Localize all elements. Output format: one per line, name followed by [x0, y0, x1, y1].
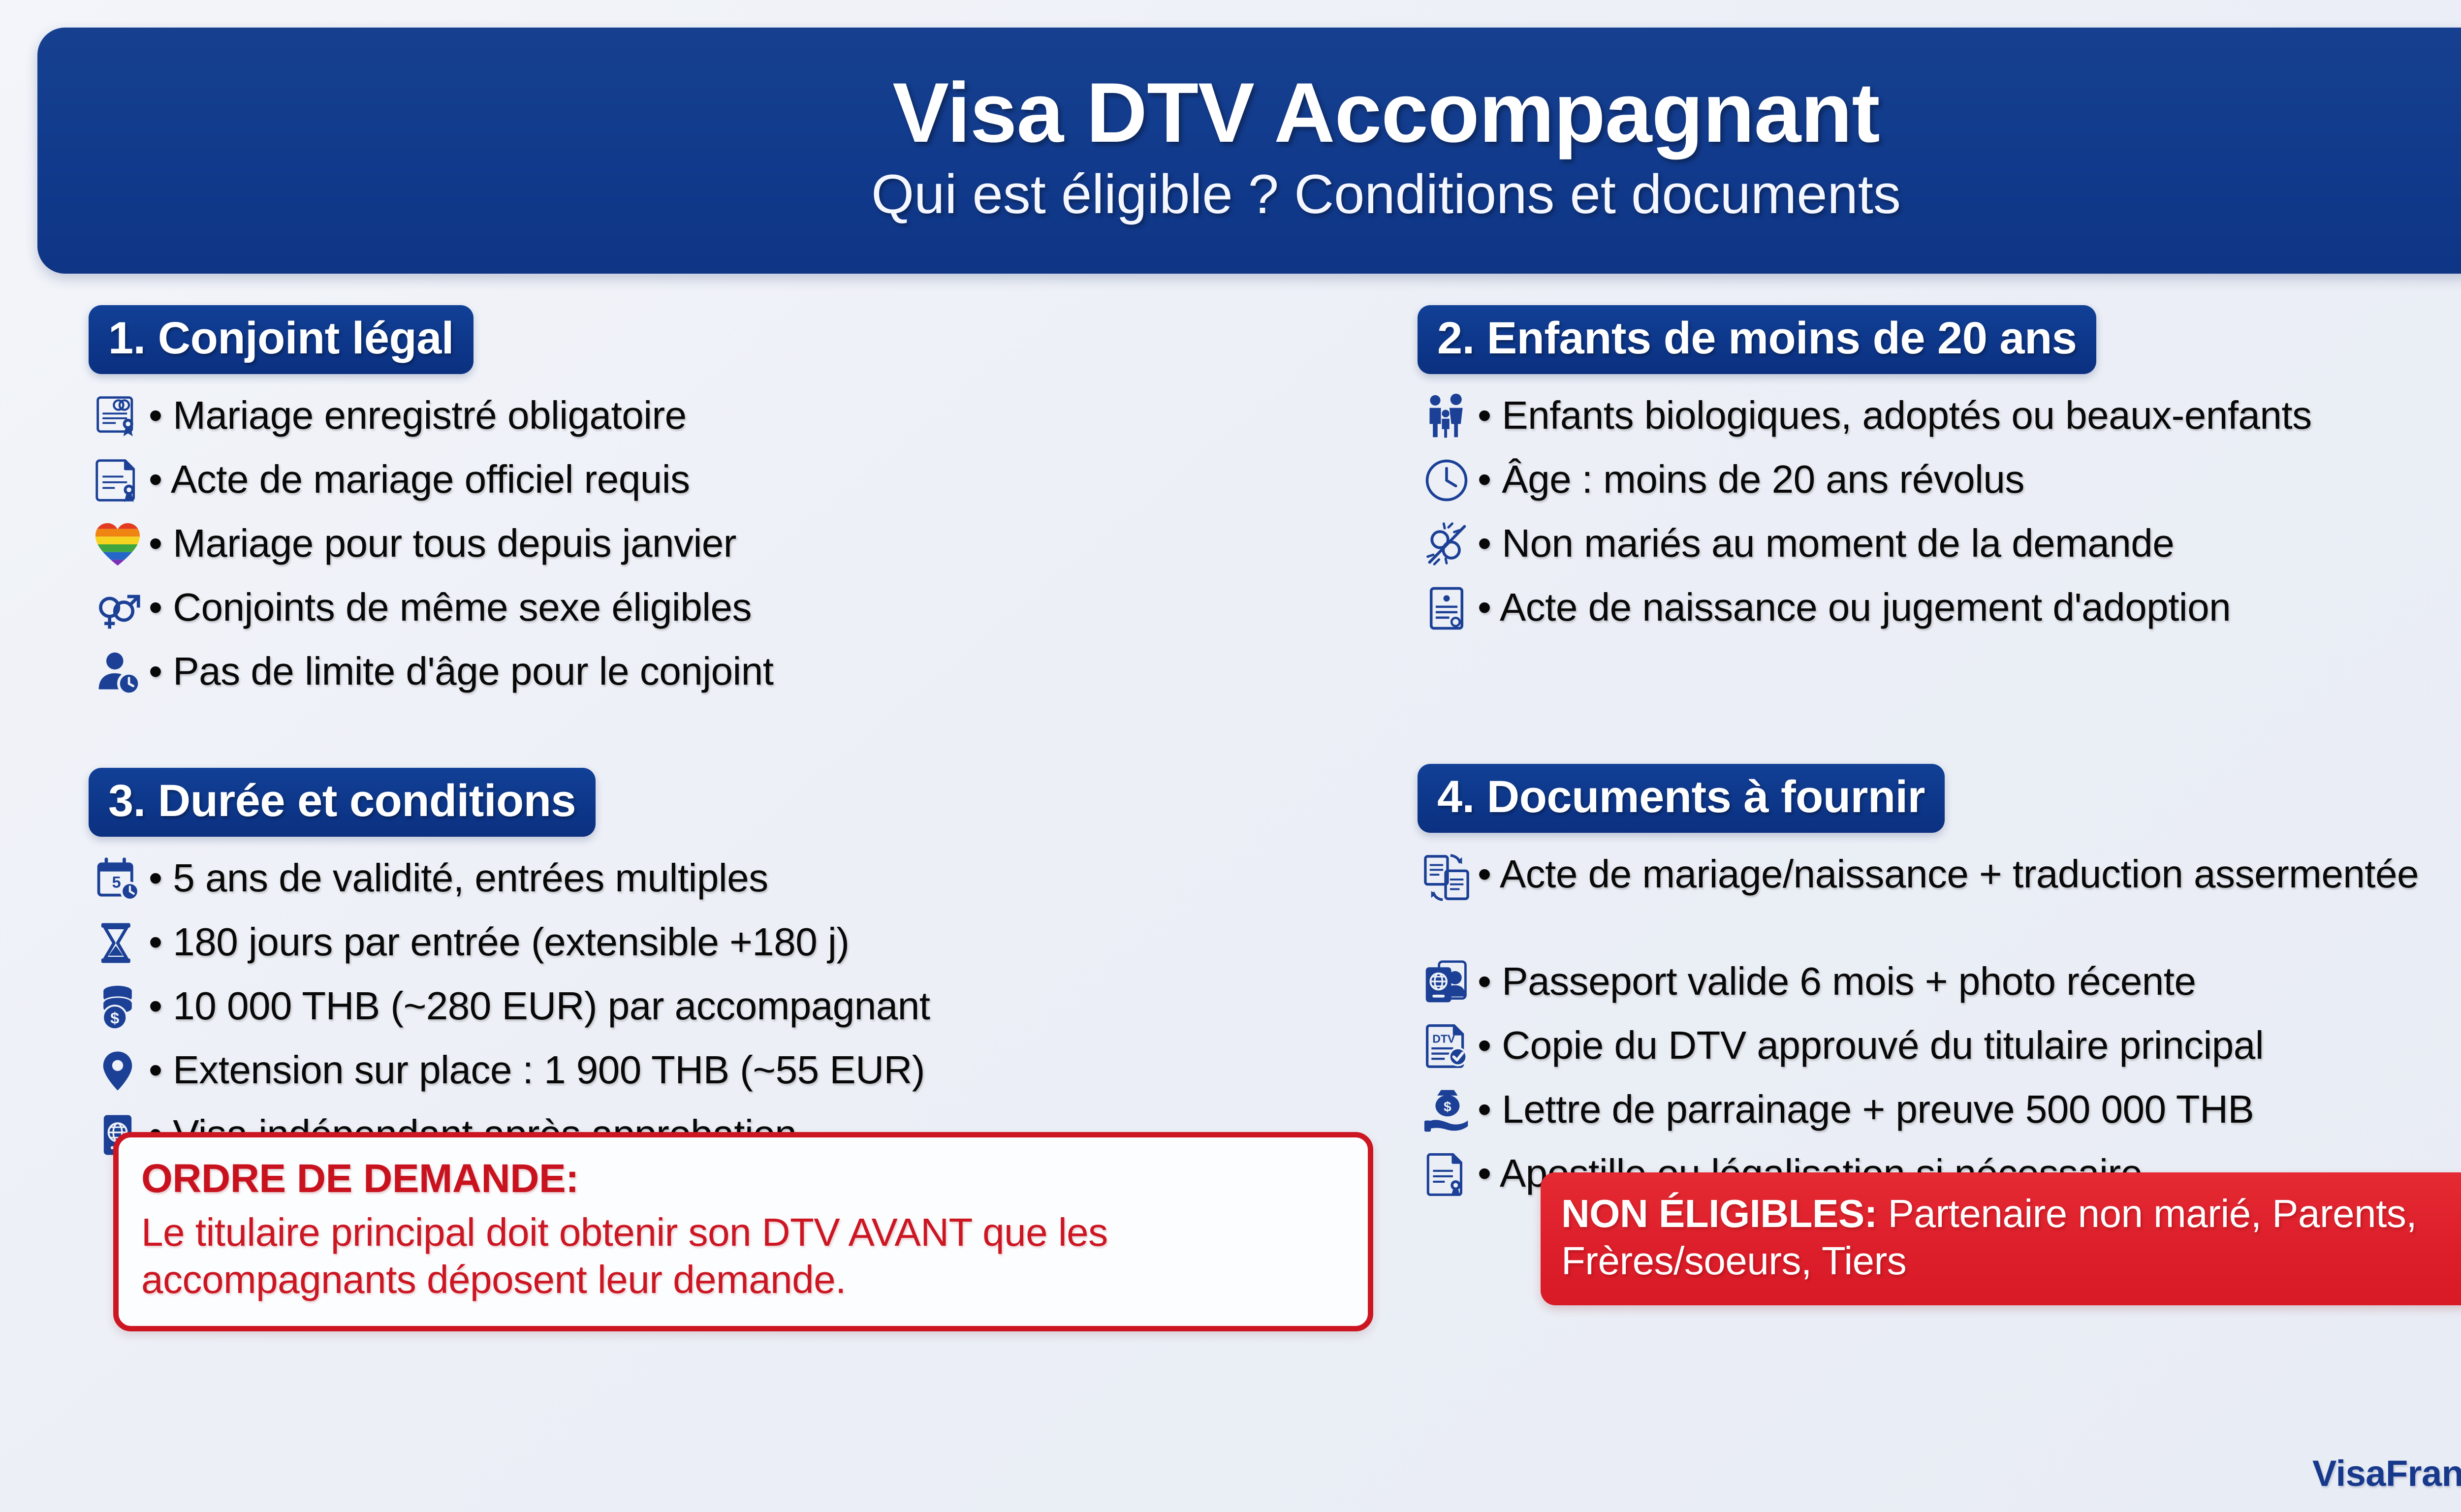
- birth-certificate-icon: [1418, 581, 1476, 636]
- section-2-list: • Enfants biologiques, adoptés ou beaux-…: [1418, 389, 2461, 636]
- callout-body: Le titulaire principal doit obtenir son …: [141, 1209, 1345, 1303]
- list-item-label: • Âge : moins de 20 ans révolus: [1478, 453, 2024, 503]
- list-item-label: • Mariage pour tous depuis janvier: [149, 517, 736, 567]
- coins-stack-icon: $: [89, 979, 147, 1035]
- list-item: • Acte de naissance ou jugement d'adopti…: [1418, 581, 2461, 636]
- svg-text:$: $: [1444, 1099, 1451, 1114]
- list-item: • Enfants biologiques, adoptés ou beaux-…: [1418, 389, 2461, 444]
- gender-symbols-icon: [89, 581, 147, 636]
- section-3-badge: 3. Durée et conditions: [89, 768, 596, 837]
- list-item-label: • Conjoints de même sexe éligibles: [149, 581, 752, 630]
- list-item-label: • Acte de mariage/naissance + traduction…: [1478, 848, 2419, 897]
- list-item-label: • 5 ans de validité, entrées multiples: [149, 851, 768, 901]
- list-item: • 180 jours par entrée (extensible +180 …: [89, 915, 1418, 971]
- person-clock-icon: [89, 645, 147, 700]
- svg-text:DTV: DTV: [1432, 1032, 1455, 1045]
- list-item-label: • 180 jours par entrée (extensible +180 …: [149, 915, 849, 965]
- list-item-label: • Acte de mariage officiel requis: [149, 453, 690, 503]
- list-item-label: • Acte de naissance ou jugement d'adopti…: [1478, 581, 2231, 630]
- callout-text: NON ÉLIGIBLES: Partenaire non marié, Par…: [1561, 1190, 2461, 1285]
- rainbow-heart-icon: [89, 517, 147, 572]
- section-1-badge: 1. Conjoint légal: [89, 305, 473, 374]
- section-conjoint-legal: 1. Conjoint légal: [89, 305, 1418, 709]
- section-documents: 4. Documents à fournir: [1418, 764, 2461, 1211]
- family-children-icon: [1418, 389, 1476, 444]
- section-4-list: • Acte de mariage/naissance + traduction…: [1418, 848, 2461, 1202]
- left-column: 1. Conjoint légal: [89, 295, 1418, 1512]
- page-subtitle: Qui est éligible ? Conditions et documen…: [871, 165, 1901, 223]
- list-item-label: • Pas de limite d'âge pour le conjoint: [149, 645, 773, 694]
- section-1-list: • Mariage enregistré obligatoire: [89, 389, 1418, 700]
- map-pin-icon: [89, 1043, 147, 1099]
- section-3-list: 5 • 5 ans de validité, entrées multiples: [89, 851, 1418, 1163]
- list-item-label: • Passeport valide 6 mois + photo récent…: [1478, 955, 2196, 1005]
- list-item: $ • 10 000 THB (~280 EUR) par accompagna…: [89, 979, 1418, 1035]
- section-enfants: 2. Enfants de moins de 20 ans • Enfa: [1418, 305, 2461, 645]
- list-item: • Passeport valide 6 mois + photo récent…: [1418, 955, 2461, 1010]
- callout-non-eligibles: NON ÉLIGIBLES: Partenaire non marié, Par…: [1541, 1172, 2461, 1305]
- svg-text:5: 5: [112, 873, 121, 891]
- section-2-badge: 2. Enfants de moins de 20 ans: [1418, 305, 2096, 374]
- list-item: • Mariage enregistré obligatoire: [89, 389, 1418, 444]
- broken-ring-icon: [1418, 517, 1476, 572]
- list-item-label: • Non mariés au moment de la demande: [1478, 517, 2174, 567]
- section-duree-conditions: 3. Durée et conditions 5: [89, 768, 1418, 1171]
- svg-text:$: $: [110, 1009, 119, 1027]
- page-header: Visa DTV Accompagnant Qui est éligible ?…: [37, 28, 2461, 274]
- right-column: 2. Enfants de moins de 20 ans • Enfa: [1418, 295, 2461, 1512]
- document-translation-icon: [1418, 848, 1476, 909]
- apostille-document-icon: [1418, 1147, 1476, 1202]
- money-hand-icon: $: [1418, 1083, 1476, 1138]
- list-item: • Âge : moins de 20 ans révolus: [1418, 453, 2461, 508]
- list-item: • Non mariés au moment de la demande: [1418, 517, 2461, 572]
- list-item-label: • 10 000 THB (~280 EUR) par accompagnant: [149, 979, 930, 1029]
- list-item-label: • Enfants biologiques, adoptés ou beaux-…: [1478, 389, 2312, 439]
- list-item: $ • Lettre de parrainage + preuve 500 00…: [1418, 1083, 2461, 1138]
- marriage-certificate-icon: [89, 389, 147, 444]
- clock-icon: [1418, 453, 1476, 508]
- list-item-label: • Extension sur place : 1 900 THB (~55 E…: [149, 1043, 925, 1093]
- official-document-seal-icon: [89, 453, 147, 508]
- callout-ordre-de-demande: ORDRE DE DEMANDE: Le titulaire principal…: [113, 1132, 1373, 1331]
- list-item: • Mariage pour tous depuis janvier: [89, 517, 1418, 572]
- footer-brand: VisaFranceThailande.fr: [2312, 1452, 2461, 1494]
- hourglass-icon: [89, 915, 147, 971]
- list-item-label: • Copie du DTV approuvé du titulaire pri…: [1478, 1019, 2264, 1069]
- list-item: • Extension sur place : 1 900 THB (~55 E…: [89, 1043, 1418, 1099]
- page-title: Visa DTV Accompagnant: [892, 70, 1879, 156]
- list-item-label: • Lettre de parrainage + preuve 500 000 …: [1478, 1083, 2254, 1133]
- list-item: • Acte de mariage/naissance + traduction…: [1418, 848, 2461, 946]
- sections-grid: 1. Conjoint légal: [0, 295, 2461, 1512]
- list-item-label: • Mariage enregistré obligatoire: [149, 389, 687, 439]
- list-item: • Conjoints de même sexe éligibles: [89, 581, 1418, 636]
- dtv-approved-icon: DTV: [1418, 1019, 1476, 1074]
- callout-title: ORDRE DE DEMANDE:: [141, 1157, 1345, 1201]
- list-item: • Acte de mariage officiel requis: [89, 453, 1418, 508]
- list-item: • Pas de limite d'âge pour le conjoint: [89, 645, 1418, 700]
- passport-photo-icon: [1418, 955, 1476, 1010]
- calendar-5-years-icon: 5: [89, 851, 147, 907]
- list-item: DTV • Copie du DTV approuvé du titulaire…: [1418, 1019, 2461, 1074]
- list-item: 5 • 5 ans de validité, entrées multiples: [89, 851, 1418, 907]
- section-4-badge: 4. Documents à fournir: [1418, 764, 1945, 833]
- callout-label: NON ÉLIGIBLES:: [1561, 1192, 1877, 1235]
